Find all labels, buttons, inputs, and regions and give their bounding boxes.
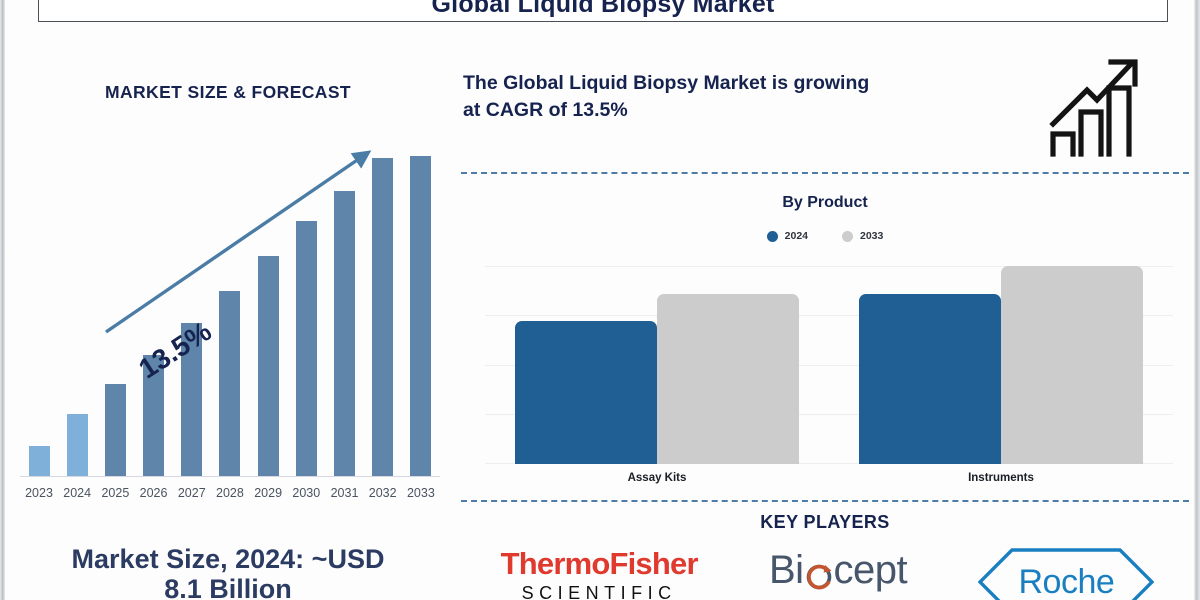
forecast-year-label: 2030 (287, 486, 325, 500)
forecast-bar-column (249, 156, 287, 476)
market-size-forecast-chart: 2023202420252026202720282029203020312032… (14, 134, 444, 514)
biocept-logo: Bi cept (769, 548, 907, 592)
biocept-text-after: cept (834, 550, 908, 590)
forecast-bars (20, 156, 440, 476)
legend-item[interactable]: 2024 (767, 230, 808, 242)
forecast-bar-column (287, 156, 325, 476)
forecast-bar (258, 256, 279, 476)
forecast-year-label: 2031 (326, 486, 364, 500)
biocept-wordmark: Bi cept (769, 548, 907, 592)
forecast-bar (105, 384, 126, 476)
infographic-root: Global Liquid Biopsy Market MARKET SIZE … (0, 0, 1200, 600)
forecast-year-label: 2027 (173, 486, 211, 500)
forecast-bar (410, 156, 431, 476)
page-title: Global Liquid Biopsy Market (432, 0, 775, 21)
forecast-year-label: 2025 (96, 486, 134, 500)
thermofisher-logo: ThermoFisher SCIENTIFIC (501, 548, 698, 600)
cagr-statement-line-1: The Global Liquid Biopsy Market is growi… (463, 70, 1053, 97)
forecast-bar (372, 158, 393, 476)
biocept-circular-arrow-icon (804, 548, 834, 592)
thermofisher-scientific-text: SCIENTIFIC (522, 581, 677, 600)
by-product-bar-group (485, 266, 829, 464)
legend-swatch-icon (842, 231, 853, 242)
forecast-year-label: 2026 (135, 486, 173, 500)
by-product-category-labels: Assay KitsInstruments (485, 472, 1173, 484)
thermofisher-wordmark: ThermoFisher (501, 548, 698, 579)
biocept-text-before: Bi (769, 550, 804, 590)
forecast-year-label: 2028 (211, 486, 249, 500)
market-size-line-2: 8.1 Billion (6, 574, 450, 600)
forecast-bar-column (20, 156, 58, 476)
market-size-forecast-panel: MARKET SIZE & FORECAST 20232024202520262… (6, 24, 450, 600)
by-product-category-label: Instruments (829, 472, 1173, 484)
by-product-category-label: Assay Kits (485, 472, 829, 484)
by-product-plot (485, 266, 1173, 464)
forecast-bar-column (402, 156, 440, 476)
by-product-section: By Product 20242033 Assay KitsInstrument… (461, 172, 1189, 502)
forecast-bar (29, 446, 50, 476)
roche-hexagon-mark: Roche (978, 548, 1154, 600)
forecast-bar-column (211, 156, 249, 476)
forecast-bar-column (58, 156, 96, 476)
key-players-row: ThermoFisher SCIENTIFIC Bi cept (465, 548, 1190, 600)
legend-label: 2033 (860, 230, 883, 242)
by-product-bar (1001, 266, 1143, 464)
right-panel: The Global Liquid Biopsy Market is growi… (455, 24, 1200, 600)
by-product-legend: 20242033 (461, 230, 1189, 242)
roche-wordmark: Roche (978, 548, 1154, 600)
forecast-bar-column (364, 156, 402, 476)
forecast-bar-column (173, 156, 211, 476)
legend-item[interactable]: 2033 (842, 230, 883, 242)
page-frame-left (0, 0, 5, 600)
legend-swatch-icon (767, 231, 778, 242)
forecast-year-label: 2029 (249, 486, 287, 500)
forecast-bar (219, 291, 240, 476)
market-size-value: Market Size, 2024: ~USD 8.1 Billion (6, 544, 450, 600)
forecast-bar (334, 191, 355, 476)
header-box: Global Liquid Biopsy Market (38, 0, 1168, 22)
by-product-bar (859, 294, 1001, 464)
forecast-year-label: 2032 (364, 486, 402, 500)
forecast-bar-column (135, 156, 173, 476)
roche-logo: Roche (978, 548, 1154, 600)
cagr-statement-line-2: at CAGR of 13.5% (463, 97, 1053, 124)
by-product-title: By Product (461, 194, 1189, 212)
by-product-bar (515, 321, 657, 464)
forecast-bar-column (326, 156, 364, 476)
forecast-year-labels: 2023202420252026202720282029203020312032… (20, 486, 440, 500)
cagr-statement: The Global Liquid Biopsy Market is growi… (463, 70, 1053, 124)
forecast-year-label: 2023 (20, 486, 58, 500)
forecast-bar (67, 414, 88, 476)
by-product-bar (657, 294, 799, 464)
forecast-year-label: 2033 (402, 486, 440, 500)
by-product-bar-group (829, 266, 1173, 464)
forecast-year-label: 2024 (58, 486, 96, 500)
forecast-axis-line (20, 476, 440, 477)
forecast-bar-column (96, 156, 134, 476)
key-players-title: KEY PLAYERS (455, 512, 1195, 533)
legend-label: 2024 (785, 230, 808, 242)
forecast-bar (296, 221, 317, 476)
market-size-forecast-heading: MARKET SIZE & FORECAST (6, 82, 450, 103)
growth-bar-chart-arrow-icon (1047, 50, 1143, 158)
by-product-bars (485, 266, 1173, 464)
market-size-line-1: Market Size, 2024: ~USD (6, 544, 450, 574)
